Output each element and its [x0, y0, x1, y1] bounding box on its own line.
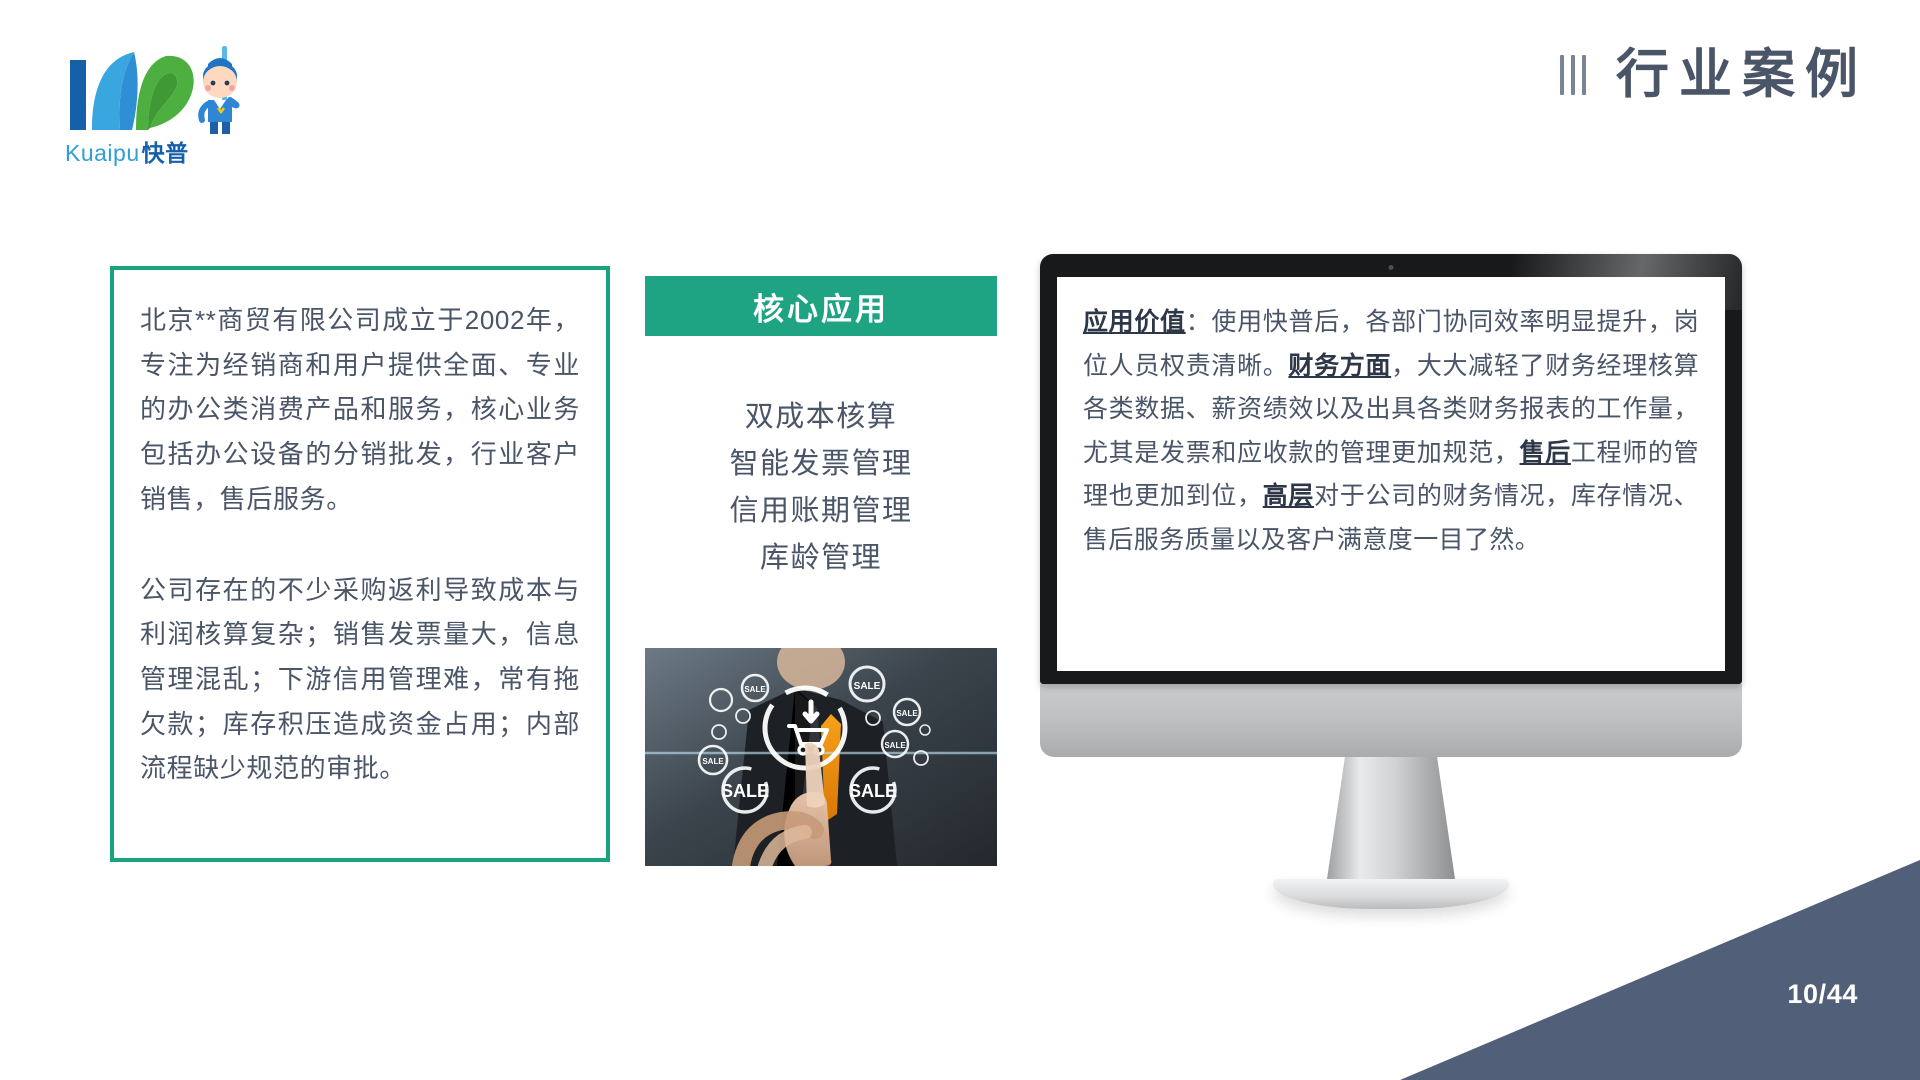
colon: ：: [1186, 308, 1212, 336]
segment-1-emphasis: 财务方面: [1288, 352, 1391, 380]
svg-text:SALE: SALE: [702, 757, 724, 766]
list-item: 双成本核算: [645, 394, 997, 441]
logo-wordmark: Kuaipu快普: [65, 134, 189, 168]
svg-text:SALE: SALE: [744, 685, 766, 694]
application-value-label: 应用价值: [1083, 308, 1186, 336]
shopping-cart-touch-illustration: SALE SALE SALE SALE SALE SALE SALE: [645, 648, 997, 866]
shopping-cart-touch-photo: SALE SALE SALE SALE SALE SALE SALE: [645, 648, 997, 866]
kuaipu-logo-mark: [62, 38, 242, 138]
page-title: 行业案例: [1560, 48, 1868, 101]
monitor-bezel: 应用价值：使用快普后，各部门协同效率明显提升，岗位人员权责清晰。财务方面，大大减…: [1040, 254, 1742, 684]
company-profile-paragraph-1: 北京**商贸有限公司成立于2002年，专注为经销商和用户提供全面、专业的办公类消…: [140, 298, 580, 522]
monitor-stand-neck: [1327, 757, 1455, 879]
core-applications-panel: 核心应用 双成本核算 智能发票管理 信用账期管理 库龄管理: [645, 276, 997, 582]
monitor-screen: 应用价值：使用快普后，各部门协同效率明显提升，岗位人员权责清晰。财务方面，大大减…: [1057, 277, 1725, 671]
segment-5-emphasis: 高层: [1263, 482, 1314, 510]
list-item: 智能发票管理: [645, 441, 997, 488]
slide-root: Kuaipu快普 行业案例 北京**商贸有限公司成立于2002年，专注为经销商和…: [0, 0, 1920, 1080]
brand-logo: Kuaipu快普: [62, 38, 242, 160]
mascot-icon: [201, 46, 237, 134]
desktop-monitor: 应用价值：使用快普后，各部门协同效率明显提升，岗位人员权责清晰。财务方面，大大减…: [1040, 254, 1742, 909]
application-value-text: 应用价值：使用快普后，各部门协同效率明显提升，岗位人员权责清晰。财务方面，大大减…: [1083, 301, 1699, 562]
monitor-chin: [1040, 684, 1742, 757]
company-problems-paragraph: 公司存在的不少采购返利导致成本与利润核算复杂；销售发票量大，信息管理混乱；下游信…: [140, 568, 580, 792]
svg-text:SALE: SALE: [884, 741, 906, 750]
company-profile-card: 北京**商贸有限公司成立于2002年，专注为经销商和用户提供全面、专业的办公类消…: [110, 266, 610, 862]
page-number: 10/44: [1787, 979, 1858, 1010]
three-vertical-bars-icon: [1560, 55, 1586, 95]
svg-text:SALE: SALE: [721, 781, 769, 801]
webcam-dot-icon: [1389, 265, 1394, 270]
logo-wordmark-latin: Kuaipu: [65, 140, 140, 166]
svg-text:SALE: SALE: [849, 781, 897, 801]
core-applications-heading: 核心应用: [645, 276, 997, 336]
segment-3-emphasis: 售后: [1520, 439, 1571, 467]
list-item: 信用账期管理: [645, 488, 997, 535]
monitor-stand-base: [1273, 879, 1509, 909]
svg-text:SALE: SALE: [854, 681, 881, 692]
logo-wordmark-cn: 快普: [142, 140, 189, 166]
core-applications-list: 双成本核算 智能发票管理 信用账期管理 库龄管理: [645, 394, 997, 582]
page-title-text: 行业案例: [1616, 48, 1868, 101]
svg-text:SALE: SALE: [896, 709, 918, 718]
list-item: 库龄管理: [645, 535, 997, 582]
